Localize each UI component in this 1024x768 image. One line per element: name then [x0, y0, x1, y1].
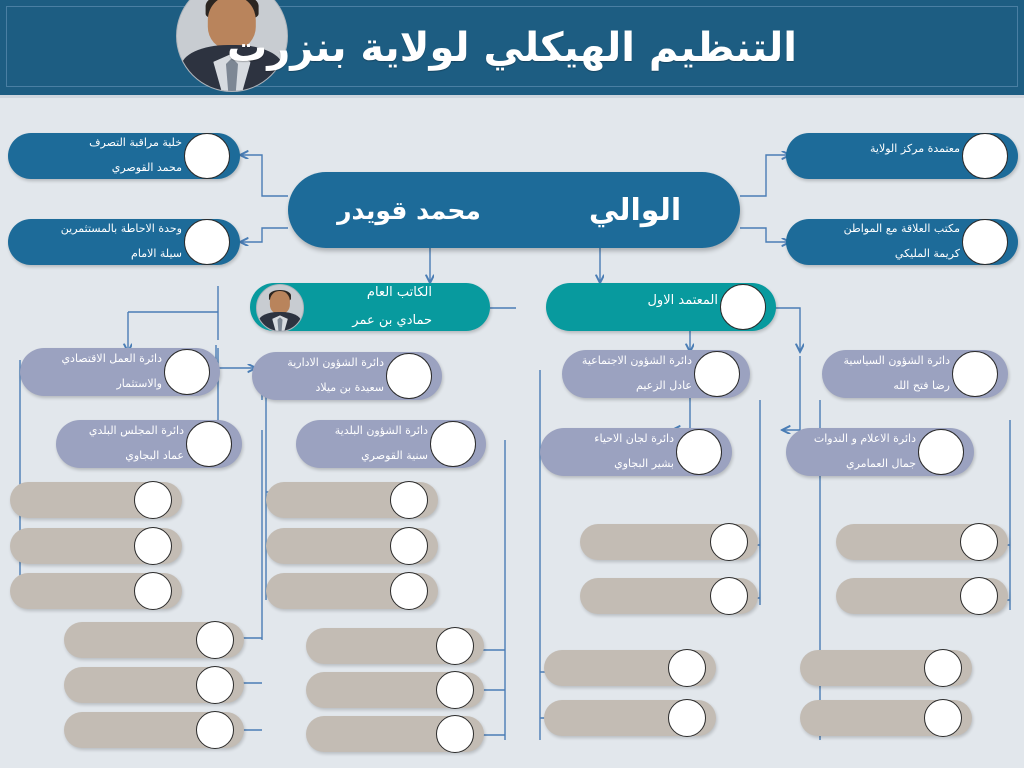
node-first-delegate[interactable]: المعتمد الاول [546, 283, 776, 331]
node-investor-support-unit[interactable]: وحدة الاحاطة بالمستثمرين سيلة الامام [8, 219, 240, 265]
avatar [134, 572, 172, 610]
node-person: عادل الزعيم [562, 380, 692, 393]
node-label: دائرة الشؤون البلدية سنية القوصري [296, 412, 434, 477]
avatar [924, 699, 962, 737]
node-person: سيلة الامام [8, 248, 182, 261]
sub-unit-pill[interactable] [306, 628, 484, 664]
node-role: دائرة الشؤون البلدية [296, 425, 428, 438]
node-role: مكتب العلاقة مع المواطن [786, 223, 960, 236]
sub-unit-pill[interactable] [800, 700, 972, 736]
avatar [196, 666, 234, 704]
avatar [390, 481, 428, 519]
node-dept-economic-investment[interactable]: دائرة العمل الاقتصادي والاستثمار [20, 348, 220, 396]
sub-unit-pill[interactable] [266, 482, 438, 518]
avatar [386, 353, 432, 399]
node-dept-social-affairs[interactable]: دائرة الشؤون الاجتماعية عادل الزعيم [562, 350, 750, 398]
node-role: دائرة الاعلام و الندوات [786, 433, 916, 446]
sub-unit-pill[interactable] [10, 482, 182, 518]
sub-unit-pill[interactable] [10, 528, 182, 564]
node-label: دائرة المجلس البلدي عماد البجاوي [56, 412, 190, 477]
node-role: دائرة المجلس البلدي [56, 425, 184, 438]
node-label: دائرة الشؤون الاجتماعية عادل الزعيم [562, 342, 698, 407]
node-dept-administrative-affairs[interactable]: دائرة الشؤون الادارية سعيدة بن ميلاد [252, 352, 442, 400]
node-governor[interactable]: الوالي محمد قويدر [288, 172, 740, 248]
node-person: سنية القوصري [296, 450, 428, 463]
node-role: معتمدة مركز الولاية [786, 143, 960, 156]
node-role: دائرة الشؤون الادارية [252, 357, 384, 370]
avatar [720, 284, 766, 330]
avatar [962, 133, 1008, 179]
avatar [196, 621, 234, 659]
node-central-delegation[interactable]: معتمدة مركز الولاية [786, 133, 1018, 179]
portrait-illustration [257, 285, 303, 331]
page-title: التنظيم الهيكلي لولاية بنزرت [227, 25, 797, 71]
governor-role: الوالي [530, 193, 740, 228]
sub-unit-pill[interactable] [544, 650, 716, 686]
node-person: جمال العمامري [786, 458, 916, 471]
node-citizen-relations-office[interactable]: مكتب العلاقة مع المواطن كريمة المليكي [786, 219, 1018, 265]
node-role: دائرة العمل الاقتصادي [20, 353, 162, 366]
sub-unit-pill[interactable] [64, 622, 244, 658]
sub-unit-pill[interactable] [64, 667, 244, 703]
node-label: دائرة العمل الاقتصادي والاستثمار [20, 340, 168, 405]
node-label: دائرة الاعلام و الندوات جمال العمامري [786, 420, 922, 485]
avatar [196, 711, 234, 749]
sub-unit-pill[interactable] [306, 672, 484, 708]
avatar [960, 577, 998, 615]
avatar [436, 715, 474, 753]
avatar [918, 429, 964, 475]
avatar [710, 523, 748, 561]
avatar [694, 351, 740, 397]
node-dept-neighborhood-committees[interactable]: دائرة لجان الاحياء بشير البجاوي [540, 428, 732, 476]
node-label: دائرة لجان الاحياء بشير البجاوي [540, 420, 680, 485]
node-dept-media-conferences[interactable]: دائرة الاعلام و الندوات جمال العمامري [786, 428, 974, 476]
avatar [186, 421, 232, 467]
node-person: والاستثمار [20, 378, 162, 391]
avatar [134, 481, 172, 519]
node-role: المعتمد الاول [546, 293, 718, 308]
avatar [952, 351, 998, 397]
node-dept-municipal-affairs[interactable]: دائرة الشؤون البلدية سنية القوصري [296, 420, 486, 468]
avatar [668, 699, 706, 737]
node-role: خلية مراقبة التصرف [8, 137, 182, 150]
node-person: محمد القوصري [8, 162, 182, 175]
node-label: مكتب العلاقة مع المواطن كريمة المليكي [786, 210, 966, 275]
node-control-cell[interactable]: خلية مراقبة التصرف محمد القوصري [8, 133, 240, 179]
node-label: دائرة الشؤون الادارية سعيدة بن ميلاد [252, 344, 390, 409]
secretary-general-avatar-photo [256, 284, 304, 332]
avatar [164, 349, 210, 395]
avatar [134, 527, 172, 565]
sub-unit-pill[interactable] [580, 524, 758, 560]
node-label: خلية مراقبة التصرف محمد القوصري [8, 124, 188, 189]
governor-name: محمد قويدر [288, 196, 530, 225]
avatar [390, 527, 428, 565]
sub-unit-pill[interactable] [836, 578, 1008, 614]
node-person: كريمة المليكي [786, 248, 960, 261]
node-label: دائرة الشؤون السياسية رضا فتح الله [822, 342, 956, 407]
avatar [390, 572, 428, 610]
node-dept-political-affairs[interactable]: دائرة الشؤون السياسية رضا فتح الله [822, 350, 1008, 398]
node-dept-municipal-council[interactable]: دائرة المجلس البلدي عماد البجاوي [56, 420, 242, 468]
avatar [960, 523, 998, 561]
sub-unit-pill[interactable] [800, 650, 972, 686]
avatar [430, 421, 476, 467]
node-person: بشير البجاوي [540, 458, 674, 471]
avatar [676, 429, 722, 475]
node-role: دائرة لجان الاحياء [540, 433, 674, 446]
avatar [710, 577, 748, 615]
sub-unit-pill[interactable] [266, 528, 438, 564]
avatar [962, 219, 1008, 265]
avatar [436, 671, 474, 709]
org-chart-canvas: التنظيم الهيكلي لولاية بنزرت [0, 0, 1024, 768]
avatar [184, 219, 230, 265]
sub-unit-pill[interactable] [10, 573, 182, 609]
sub-unit-pill[interactable] [64, 712, 244, 748]
sub-unit-pill[interactable] [266, 573, 438, 609]
node-label: معتمدة مركز الولاية [786, 130, 966, 182]
node-person: سعيدة بن ميلاد [252, 382, 384, 395]
node-person: رضا فتح الله [822, 380, 950, 393]
node-label: وحدة الاحاطة بالمستثمرين سيلة الامام [8, 210, 188, 275]
sub-unit-pill[interactable] [580, 578, 758, 614]
avatar [924, 649, 962, 687]
sub-unit-pill[interactable] [544, 700, 716, 736]
node-label: المعتمد الاول [546, 280, 724, 334]
avatar [184, 133, 230, 179]
node-person: عماد البجاوي [56, 450, 184, 463]
page-header: التنظيم الهيكلي لولاية بنزرت [0, 0, 1024, 98]
sub-unit-pill[interactable] [836, 524, 1008, 560]
sub-unit-pill[interactable] [306, 716, 484, 752]
node-role: وحدة الاحاطة بالمستثمرين [8, 223, 182, 236]
avatar [668, 649, 706, 687]
node-role: دائرة الشؤون الاجتماعية [562, 355, 692, 368]
node-role: دائرة الشؤون السياسية [822, 355, 950, 368]
avatar [436, 627, 474, 665]
